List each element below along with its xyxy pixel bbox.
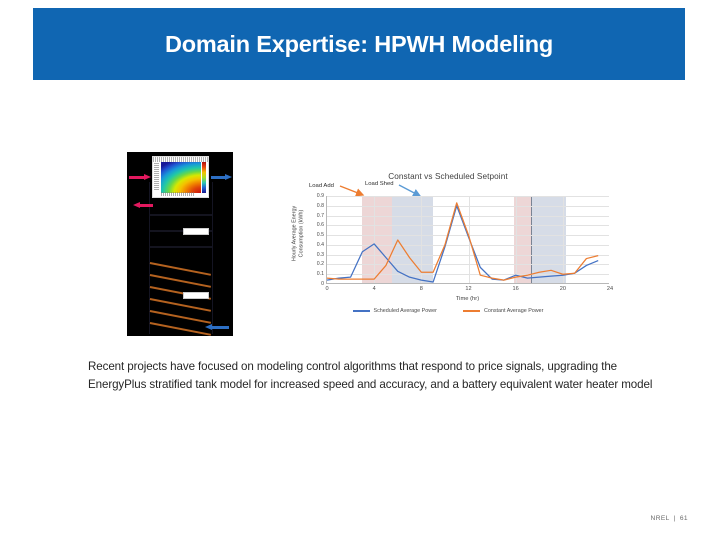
page-title: Domain Expertise: HPWH Modeling	[165, 31, 553, 58]
chart-legend: Scheduled Average Power Constant Average…	[283, 308, 613, 314]
legend-swatch-scheduled	[353, 310, 370, 312]
inlet-arrow-bottom-right	[205, 324, 229, 331]
y-tick-label: 0.8	[317, 203, 324, 209]
heatmap-colorbar	[202, 162, 206, 193]
y-tick-label: 0.3	[317, 252, 324, 258]
upper-heating-element	[183, 228, 209, 235]
x-tick-label: 24	[607, 286, 613, 292]
heatmap-y-axis	[154, 163, 159, 191]
footer-page-number: 61	[680, 515, 688, 522]
y-tick-label: 0.9	[317, 193, 324, 199]
load-add-arrow	[340, 186, 363, 195]
legend-item-constant: Constant Average Power	[463, 308, 544, 314]
x-tick-label: 20	[560, 286, 566, 292]
legend-label-constant: Constant Average Power	[484, 308, 544, 314]
y-tick-label: 0.6	[317, 222, 324, 228]
x-tick-label: 16	[513, 286, 519, 292]
y-tick-label: 0.7	[317, 213, 324, 219]
footer-separator: |	[674, 515, 676, 522]
x-tick-label: 12	[465, 286, 471, 292]
inlet-arrow-top-left	[129, 174, 151, 181]
y-tick-label: 0.2	[317, 261, 324, 267]
energy-consumption-chart: Constant vs Scheduled Setpoint Hourly Av…	[283, 172, 613, 330]
load-shed-arrow	[399, 185, 420, 196]
chart-plot-area: 0.9 0.8 0.7 0.6 0.5 0.4 0.3 0.2 0.1 0 0 …	[326, 196, 609, 284]
y-tick-label: 0.5	[317, 232, 324, 238]
tank-schematic-figure	[127, 152, 233, 336]
x-tick-label: 4	[373, 286, 376, 292]
heatmap-plot-area	[161, 162, 201, 193]
tank-separator-line	[150, 214, 212, 216]
legend-item-scheduled: Scheduled Average Power	[353, 308, 437, 314]
y-tick-label: 0.4	[317, 242, 324, 248]
slide: Domain Expertise: HPWH Modeling	[0, 0, 720, 540]
series-line-constant	[327, 203, 598, 280]
outlet-arrow-top-right	[211, 174, 232, 181]
body-paragraph: Recent projects have focused on modeling…	[88, 358, 676, 393]
lower-heating-element	[183, 292, 209, 299]
temperature-heatmap-inset	[152, 156, 209, 198]
legend-swatch-constant	[463, 310, 480, 312]
chart-x-axis-label: Time (hr)	[326, 296, 609, 302]
y-tick-label: 0	[321, 281, 324, 287]
chart-series-layer	[327, 196, 610, 284]
footer-brand: NREL	[651, 515, 670, 522]
x-tick-label: 8	[420, 286, 423, 292]
x-tick-label: 0	[325, 286, 328, 292]
heatmap-x-axis	[161, 192, 195, 196]
return-arrow-left	[133, 202, 153, 209]
slide-footer: NREL|61	[651, 515, 688, 522]
y-tick-label: 0.1	[317, 271, 324, 277]
legend-label-scheduled: Scheduled Average Power	[374, 308, 437, 314]
title-banner: Domain Expertise: HPWH Modeling	[33, 8, 685, 80]
tank-separator-line	[150, 246, 212, 248]
